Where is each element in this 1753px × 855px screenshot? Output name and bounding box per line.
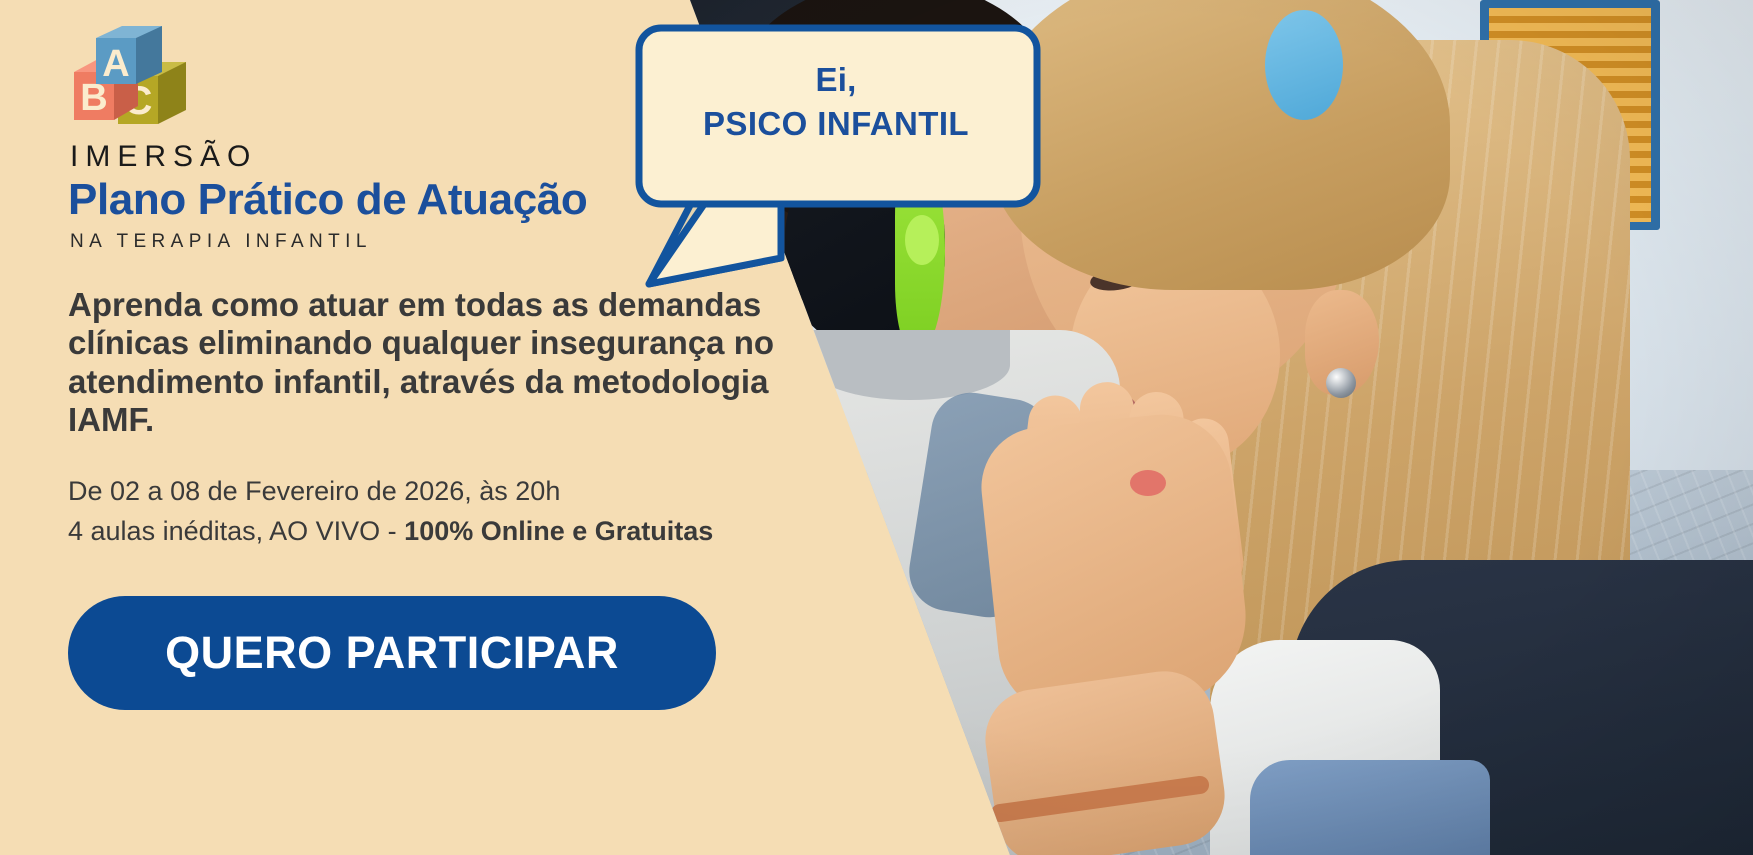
speech-bubble-shape — [631, 22, 1041, 292]
speech-bubble: Ei, PSICO INFANTIL — [631, 22, 1041, 292]
abc-blocks-logo: C B A — [70, 24, 190, 134]
abc-blocks-svg: C B A — [70, 24, 190, 134]
event-format-prefix: 4 aulas inéditas, AO VIVO - — [68, 516, 404, 546]
promo-banner: C B A IMERSÃO Plano Prático de — [0, 0, 1753, 855]
page-title: Plano Prático de Atuação — [68, 175, 587, 225]
svg-text:A: A — [102, 43, 129, 85]
event-format-highlight: 100% Online e Gratuitas — [404, 516, 713, 546]
event-date-line: De 02 a 08 de Fevereiro de 2026, às 20h — [68, 472, 898, 512]
eyebrow-text: IMERSÃO — [70, 140, 257, 174]
event-format-line: 4 aulas inéditas, AO VIVO - 100% Online … — [68, 512, 898, 552]
bubble-body — [639, 28, 1037, 204]
cta-button[interactable]: QUERO PARTICIPAR — [68, 596, 716, 710]
page-subtitle: NA TERAPIA INFANTIL — [70, 231, 372, 253]
block-a-icon: A — [96, 26, 162, 85]
event-info: De 02 a 08 de Fevereiro de 2026, às 20h … — [68, 472, 898, 552]
content-column: C B A IMERSÃO Plano Prático de — [0, 0, 700, 855]
description-paragraph: Aprenda como atuar em todas as demandas … — [68, 286, 798, 439]
